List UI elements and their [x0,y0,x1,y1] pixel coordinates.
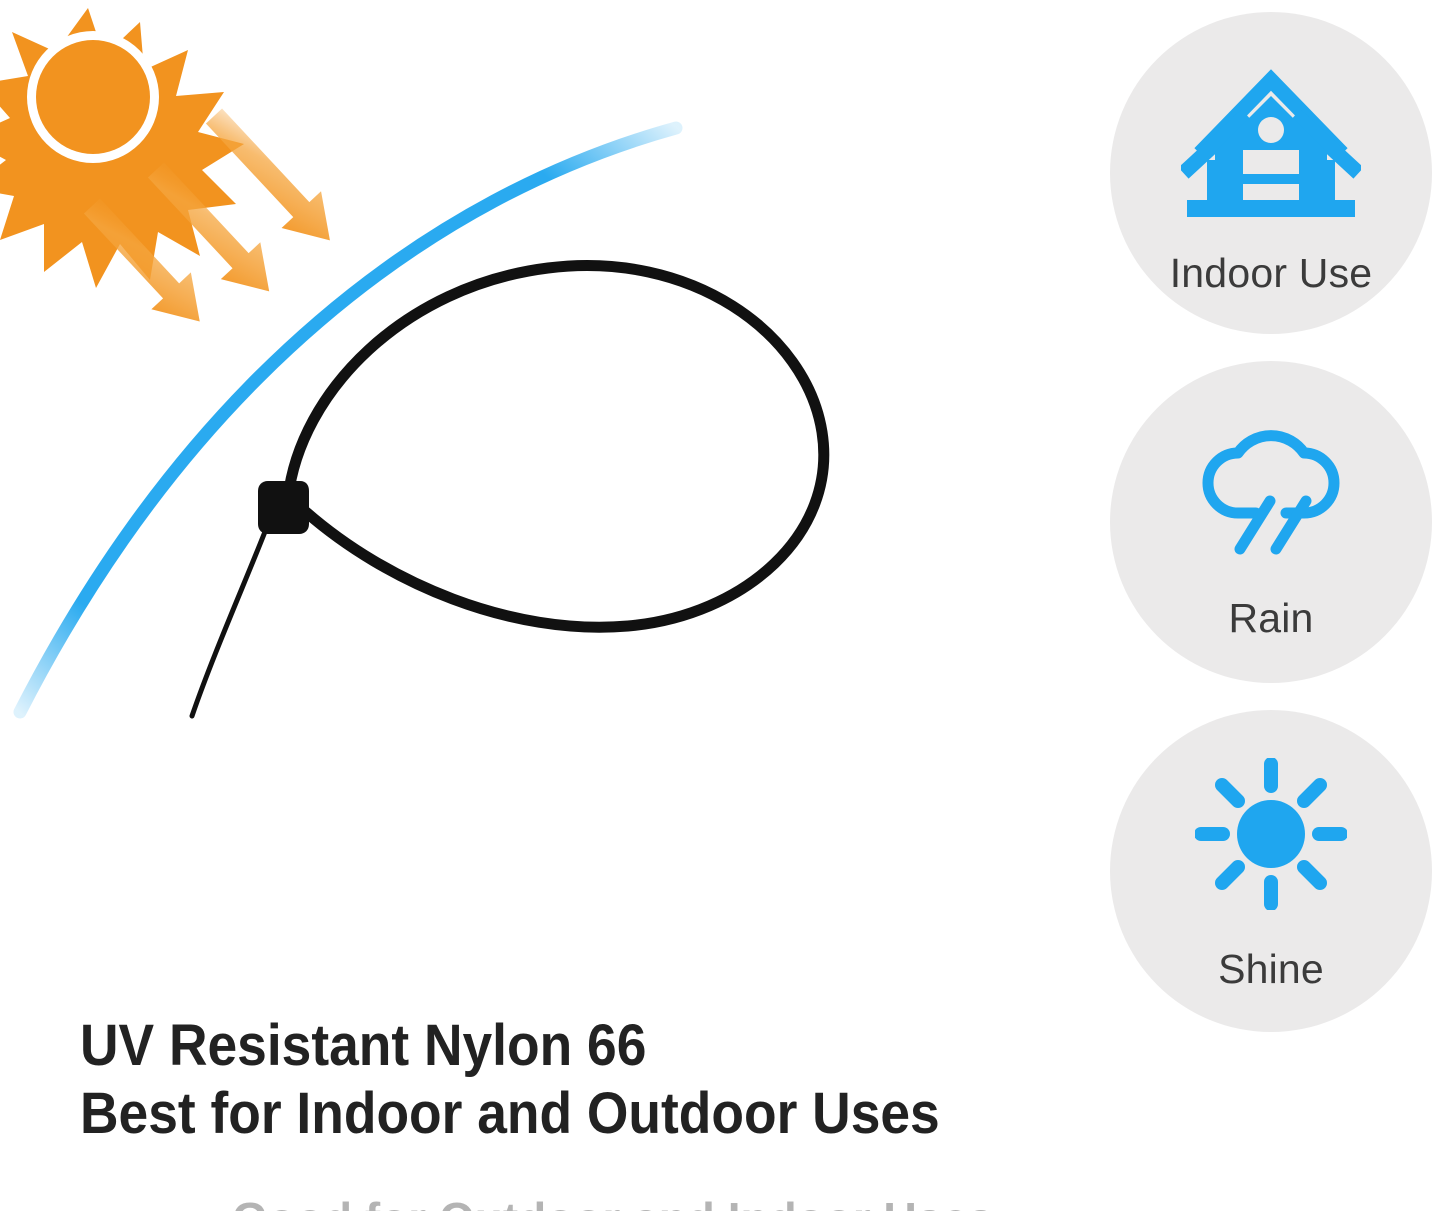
headline-line-3-clipped: Good for Outdoor and Indoor Uses [232,1193,992,1211]
feature-badge-indoor-use: Indoor Use [1110,12,1432,334]
feature-badge-list: Indoor Use Rain [1110,12,1432,1059]
feature-badge-rain: Rain [1110,361,1432,683]
sun-icon [1195,758,1347,915]
headline-line-2: Best for Indoor and Outdoor Uses [80,1080,1000,1148]
feature-badge-shine: Shine [1110,710,1432,1032]
headline-line-1: UV Resistant Nylon 66 [80,1012,1000,1080]
house-icon [1181,56,1361,231]
feature-label-shine: Shine [1218,949,1324,990]
rain-cloud-icon [1182,409,1360,570]
product-illustration [0,0,1000,780]
black-cable-tie [192,266,824,716]
feature-label-rain: Rain [1228,598,1313,639]
headline-block: UV Resistant Nylon 66 Best for Indoor an… [80,1012,1080,1148]
feature-label-indoor-use: Indoor Use [1170,253,1373,294]
